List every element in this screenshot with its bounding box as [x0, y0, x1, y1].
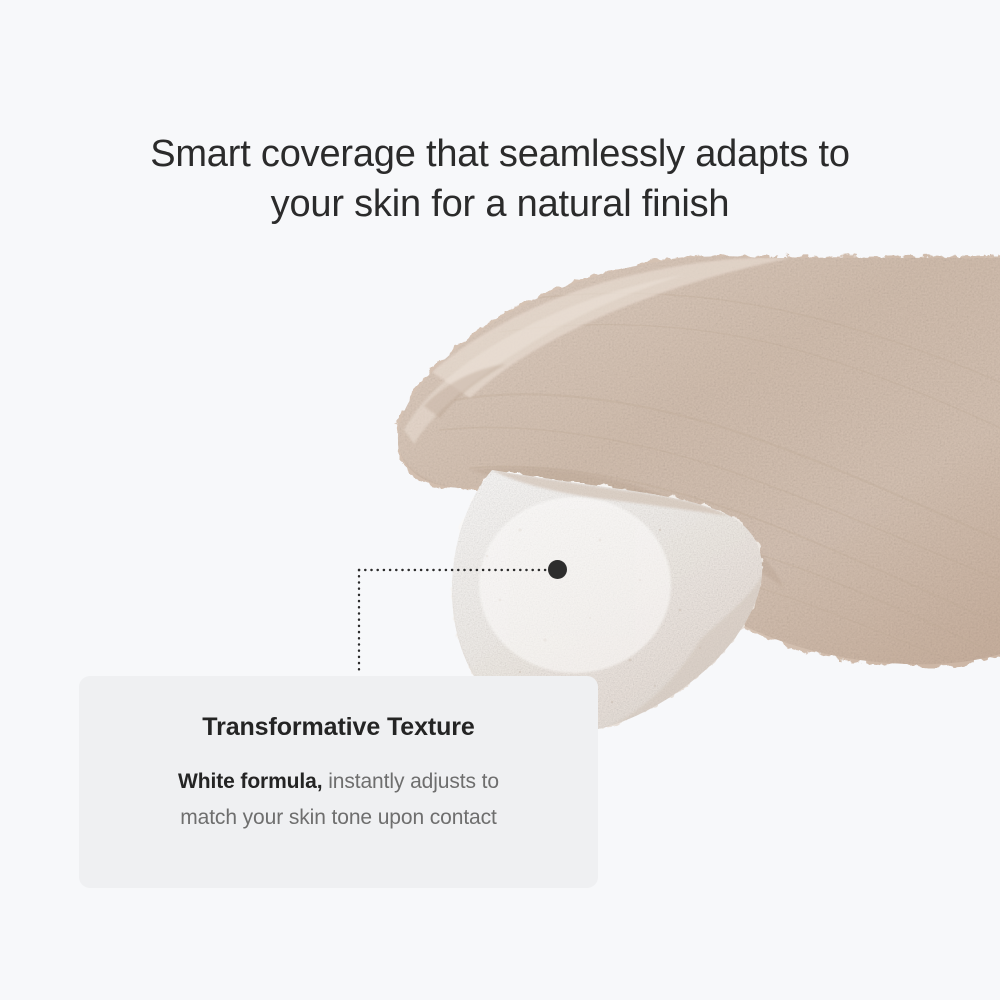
- card-body-emphasis: White formula,: [178, 770, 322, 793]
- headline-line-2: your skin for a natural finish: [0, 179, 1000, 229]
- card-body: White formula, instantly adjusts to matc…: [107, 764, 570, 836]
- page-headline: Smart coverage that seamlessly adapts to…: [0, 129, 1000, 229]
- headline-line-1: Smart coverage that seamlessly adapts to: [0, 129, 1000, 179]
- card-body-line-1: instantly adjusts to: [322, 770, 499, 793]
- texture-marker-dot[interactable]: [548, 560, 567, 579]
- promo-canvas: Smart coverage that seamlessly adapts to…: [0, 0, 1000, 1000]
- card-body-line-2: match your skin tone upon contact: [180, 806, 497, 829]
- info-card: Transformative Texture White formula, in…: [79, 676, 598, 888]
- card-title: Transformative Texture: [107, 712, 570, 742]
